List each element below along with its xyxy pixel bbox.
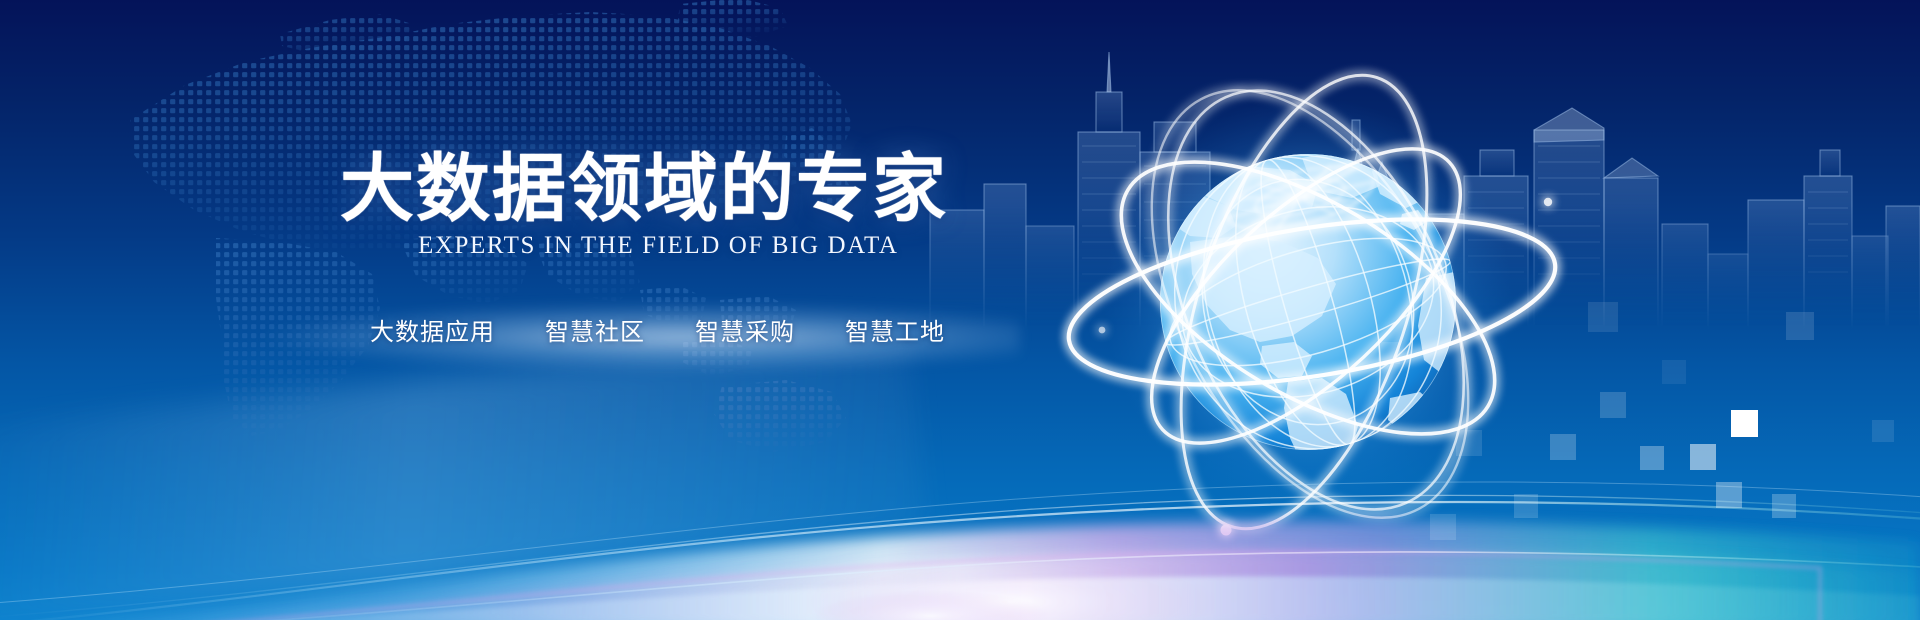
decorative-square	[1430, 514, 1456, 540]
decorative-square	[1690, 444, 1716, 470]
tag-item-big-data-application[interactable]: 大数据应用	[370, 312, 495, 347]
decorative-square	[1600, 392, 1626, 418]
decorative-square	[1456, 430, 1482, 456]
city-skyline-graphic	[920, 0, 1920, 330]
decorative-square	[1772, 494, 1796, 518]
banner-root: 大数据领域的专家 EXPERTS IN THE FIELD OF BIG DAT…	[0, 0, 1920, 620]
decorative-square	[1588, 302, 1618, 332]
page-subtitle: EXPERTS IN THE FIELD OF BIG DATA	[418, 232, 899, 260]
decorative-square	[1662, 360, 1686, 384]
tag-item-smart-community[interactable]: 智慧社区	[545, 312, 645, 347]
globe-network-icon	[1050, 30, 1610, 590]
decorative-square-accent	[1731, 410, 1758, 437]
decorative-square	[1550, 434, 1576, 460]
tag-item-smart-procurement[interactable]: 智慧采购	[695, 312, 795, 347]
decorative-square	[1786, 312, 1814, 340]
tag-item-smart-construction-site[interactable]: 智慧工地	[845, 312, 945, 347]
decorative-square	[1514, 494, 1538, 518]
page-title: 大数据领域的专家	[340, 150, 948, 228]
decorative-square	[1640, 446, 1664, 470]
banner-copy: 大数据领域的专家 EXPERTS IN THE FIELD OF BIG DAT…	[0, 0, 1040, 620]
decorative-square	[1716, 482, 1742, 508]
decorative-square	[1872, 420, 1894, 442]
tag-list: 大数据应用 智慧社区 智慧采购 智慧工地	[370, 312, 945, 347]
decorative-square	[1378, 342, 1400, 364]
